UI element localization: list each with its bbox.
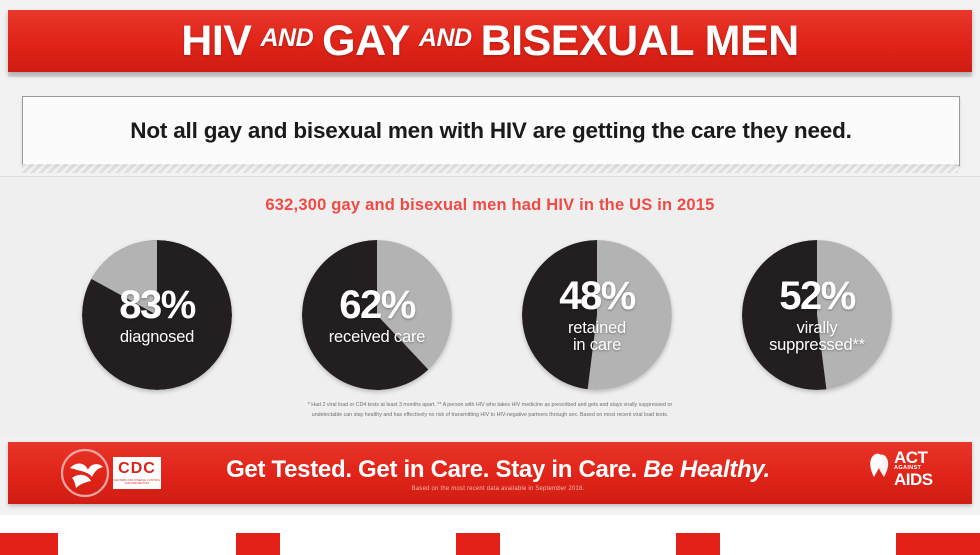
pie-chart-diagnosed: 83% diagnosed (82, 240, 232, 390)
page-title: HIV AND GAY AND BISEXUAL MEN (8, 10, 972, 72)
pie-chart-received-care: 62% received care (302, 240, 452, 390)
title-hiv: HIV (181, 17, 251, 66)
act-against-aids-text: ACT AGAINST AIDS (894, 450, 933, 488)
aaa-line-act: ACT (894, 450, 933, 466)
aaa-line-aids: AIDS (894, 472, 933, 488)
hhs-logo-icon (58, 448, 112, 498)
cdc-logo-label: CDC (118, 461, 156, 477)
footnotes: * Had 2 viral load or CD4 tests at least… (150, 401, 830, 421)
hatched-divider (22, 164, 958, 173)
title-banner: HIV AND GAY AND BISEXUAL MEN (8, 10, 972, 72)
footer-tagline: Get Tested. Get in Care. Stay in Care. B… (188, 456, 808, 484)
pie-graphic-diagnosed (82, 240, 232, 390)
pie-chart-row: 83% diagnosed 62% received care (0, 240, 980, 390)
pie-graphic-virally-suppressed (742, 240, 892, 390)
infographic-page: HIV AND GAY AND BISEXUAL MEN Not all gay… (0, 0, 980, 515)
title-bisexual-men: BISEXUAL MEN (481, 17, 799, 66)
connector-bar-3 (676, 533, 720, 555)
pie-chart-retained-in-care: 48% retained in care (522, 240, 672, 390)
pie-graphic-received-care (302, 240, 452, 390)
footer-subtext: Based on the most recent data available … (188, 486, 808, 492)
title-and-1: AND (251, 24, 322, 53)
pie-chart-virally-suppressed: 52% virally suppressed** (742, 240, 892, 390)
connector-bar-2 (456, 533, 500, 555)
title-gay: GAY (322, 17, 410, 66)
footer-tagline-main: Get Tested. Get in Care. Stay in Care. (226, 456, 643, 483)
act-against-aids-logo: ACT AGAINST AIDS (866, 450, 958, 496)
pie-graphic-retained-in-care (522, 240, 672, 390)
aids-ribbon-icon (866, 451, 892, 497)
cdc-logo: CDC CENTERS FOR DISEASE CONTROL AND PREV… (113, 457, 161, 489)
connector-bar-left (0, 533, 58, 555)
headline-stat: 632,300 gay and bisexual men had HIV in … (0, 196, 980, 215)
footnote-line-1: * Had 2 viral load or CD4 tests at least… (150, 401, 830, 411)
connector-bar-1 (236, 533, 280, 555)
title-and-2: AND (410, 24, 481, 53)
subtitle-box: Not all gay and bisexual men with HIV ar… (22, 96, 960, 166)
cdc-logo-sublabel: CENTERS FOR DISEASE CONTROL AND PREVENTI… (113, 479, 161, 485)
subtitle-text: Not all gay and bisexual men with HIV ar… (130, 118, 851, 144)
connector-bar-right (896, 533, 980, 555)
footnote-line-2: undetectable can stay healthy and has ef… (150, 411, 830, 421)
footer-tagline-italic: Be Healthy. (643, 456, 770, 483)
